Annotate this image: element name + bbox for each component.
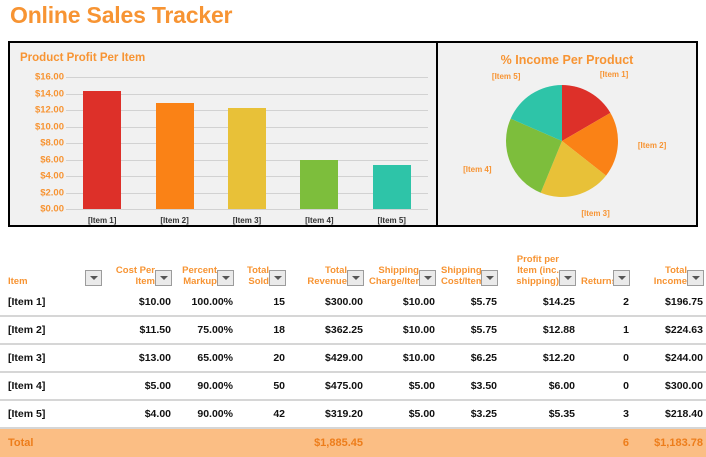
table-cell: $218.40: [632, 400, 706, 428]
table-header-row: ItemCost Per ItemPercent MarkupTotal Sol…: [0, 245, 706, 289]
sales-table: ItemCost Per ItemPercent MarkupTotal Sol…: [0, 245, 706, 457]
bar-chart-bar: [156, 103, 194, 209]
table-cell: 42: [236, 400, 288, 428]
table-cell: 65.00%: [174, 344, 236, 372]
table-cell: $300.00: [288, 289, 366, 316]
table-total-row: Total$1,885.456$1,183.78: [0, 428, 706, 457]
bar-chart-bar: [300, 160, 338, 210]
table-cell: $244.00: [632, 344, 706, 372]
bar-chart-y-tick: $10.00: [35, 121, 64, 132]
pie-chart-plot: [Item 1][Item 2][Item 3][Item 4][Item 5]: [438, 43, 696, 225]
column-filter-button[interactable]: [269, 270, 286, 286]
table-cell: 75.00%: [174, 316, 236, 344]
table-cell: $13.00: [104, 344, 174, 372]
table-total-cell: [366, 428, 438, 457]
bar-chart-plot: $16.00$14.00$12.00$10.00$8.00$6.00$4.00$…: [10, 43, 436, 225]
table-total-cell: $1,885.45: [288, 428, 366, 457]
table-cell: $5.00: [104, 372, 174, 400]
table-cell: [Item 4]: [0, 372, 104, 400]
charts-row: Product Profit Per Item $16.00$14.00$12.…: [8, 41, 698, 227]
column-filter-button[interactable]: [481, 270, 498, 286]
bar-chart-y-tick: $12.00: [35, 105, 64, 116]
table-cell: $6.25: [438, 344, 500, 372]
column-filter-button[interactable]: [347, 270, 364, 286]
table-cell: $5.75: [438, 289, 500, 316]
table-cell: $5.00: [366, 400, 438, 428]
chevron-down-icon: [618, 276, 626, 280]
table-cell: [Item 5]: [0, 400, 104, 428]
table-row[interactable]: [Item 4]$5.0090.00%50$475.00$5.00$3.50$6…: [0, 372, 706, 400]
pie-chart-label: [Item 4]: [463, 165, 491, 174]
chevron-down-icon: [90, 276, 98, 280]
bar-chart-x-label: [Item 5]: [364, 216, 420, 225]
bar-chart-y-tick: $2.00: [40, 187, 64, 198]
table-cell: $429.00: [288, 344, 366, 372]
table-header-cell: Percent Markup: [174, 245, 236, 289]
table-cell: 0: [578, 372, 632, 400]
table-total-cell: [438, 428, 500, 457]
column-filter-button[interactable]: [217, 270, 234, 286]
table-cell: 1: [578, 316, 632, 344]
table-cell: $5.35: [500, 400, 578, 428]
bar-chart-x-label: [Item 1]: [74, 216, 130, 225]
table-header-cell: Total Sold: [236, 245, 288, 289]
table-row[interactable]: [Item 2]$11.5075.00%18$362.25$10.00$5.75…: [0, 316, 706, 344]
column-filter-button[interactable]: [687, 270, 704, 286]
sales-table-container: ItemCost Per ItemPercent MarkupTotal Sol…: [0, 245, 706, 429]
bar-chart-y-tick: $16.00: [35, 72, 64, 83]
table-body: [Item 1]$10.00100.00%15$300.00$10.00$5.7…: [0, 289, 706, 457]
table-cell: $6.00: [500, 372, 578, 400]
column-filter-button[interactable]: [419, 270, 436, 286]
table-header-cell: Cost Per Item: [104, 245, 174, 289]
table-cell: $300.00: [632, 372, 706, 400]
table-cell: $10.00: [366, 289, 438, 316]
chevron-down-icon: [486, 276, 494, 280]
bar-chart-x-labels: [Item 1][Item 2][Item 3][Item 4][Item 5]: [66, 211, 428, 229]
chevron-down-icon: [222, 276, 230, 280]
table-row[interactable]: [Item 5]$4.0090.00%42$319.20$5.00$3.25$5…: [0, 400, 706, 428]
table-cell: 0: [578, 344, 632, 372]
pie-chart-label: [Item 3]: [581, 209, 609, 218]
pie-chart-panel: % Income Per Product [Item 1][Item 2][It…: [438, 41, 698, 227]
table-cell: 15: [236, 289, 288, 316]
table-cell: 90.00%: [174, 372, 236, 400]
table-cell: 20: [236, 344, 288, 372]
table-cell: 90.00%: [174, 400, 236, 428]
table-cell: $11.50: [104, 316, 174, 344]
table-cell: 18: [236, 316, 288, 344]
table-cell: $319.20: [288, 400, 366, 428]
bar-chart-x-label: [Item 3]: [219, 216, 275, 225]
table-total-cell: 6: [578, 428, 632, 457]
table-cell: $196.75: [632, 289, 706, 316]
table-header-cell: Returns: [578, 245, 632, 289]
table-cell: $362.25: [288, 316, 366, 344]
table-cell: $12.20: [500, 344, 578, 372]
bar-chart-gridline: [66, 209, 428, 210]
table-cell: $5.75: [438, 316, 500, 344]
pie-chart-label: [Item 1]: [600, 70, 628, 79]
table-cell: $3.50: [438, 372, 500, 400]
chevron-down-icon: [352, 276, 360, 280]
table-total-cell: Total: [0, 428, 104, 457]
chevron-down-icon: [424, 276, 432, 280]
pie-chart-label: [Item 2]: [638, 141, 666, 150]
table-header-cell: Item: [0, 245, 104, 289]
table-total-cell: [500, 428, 578, 457]
table-cell: 50: [236, 372, 288, 400]
bar-chart-y-tick: $4.00: [40, 171, 64, 182]
table-cell: $10.00: [366, 316, 438, 344]
table-total-cell: [104, 428, 174, 457]
page-title: Online Sales Tracker: [10, 2, 232, 29]
table-row[interactable]: [Item 3]$13.0065.00%20$429.00$10.00$6.25…: [0, 344, 706, 372]
column-filter-button[interactable]: [613, 270, 630, 286]
table-cell: $224.63: [632, 316, 706, 344]
table-header-cell: Shipping Charge/Item: [366, 245, 438, 289]
table-cell: $10.00: [104, 289, 174, 316]
chevron-down-icon: [274, 276, 282, 280]
table-cell: $10.00: [366, 344, 438, 372]
bar-chart-x-label: [Item 4]: [291, 216, 347, 225]
table-header-cell: Shipping Cost/Item: [438, 245, 500, 289]
pie-chart-label: [Item 5]: [492, 72, 520, 81]
table-cell: 2: [578, 289, 632, 316]
table-cell: 100.00%: [174, 289, 236, 316]
bar-chart-bars: [66, 77, 428, 209]
table-cell: $4.00: [104, 400, 174, 428]
table-cell: [Item 3]: [0, 344, 104, 372]
table-header-cell: Profit per Item (inc. shipping): [500, 245, 578, 289]
chevron-down-icon: [692, 276, 700, 280]
table-header-cell: Total Revenue: [288, 245, 366, 289]
bar-chart-x-label: [Item 2]: [147, 216, 203, 225]
pie-chart-svg: [438, 43, 694, 225]
bar-chart-bar: [373, 165, 411, 209]
bar-chart-y-tick: $8.00: [40, 138, 64, 149]
online-sales-tracker-app: Online Sales Tracker Product Profit Per …: [0, 0, 706, 429]
chevron-down-icon: [160, 276, 168, 280]
table-cell: $12.88: [500, 316, 578, 344]
bar-chart-y-tick: $6.00: [40, 154, 64, 165]
bar-chart-y-tick: $14.00: [35, 88, 64, 99]
table-cell: $475.00: [288, 372, 366, 400]
table-row[interactable]: [Item 1]$10.00100.00%15$300.00$10.00$5.7…: [0, 289, 706, 316]
column-filter-button[interactable]: [559, 270, 576, 286]
column-filter-button[interactable]: [85, 270, 102, 286]
table-cell: [Item 2]: [0, 316, 104, 344]
bar-chart-plot-area: [66, 77, 428, 209]
bar-chart-bar: [83, 91, 121, 209]
chevron-down-icon: [564, 276, 572, 280]
table-total-cell: $1,183.78: [632, 428, 706, 457]
table-cell: $3.25: [438, 400, 500, 428]
table-cell: $14.25: [500, 289, 578, 316]
table-cell: 3: [578, 400, 632, 428]
table-cell: $5.00: [366, 372, 438, 400]
column-filter-button[interactable]: [155, 270, 172, 286]
table-header-cell: Total Income: [632, 245, 706, 289]
bar-chart-y-tick: $0.00: [40, 204, 64, 215]
bar-chart-bar: [228, 108, 266, 209]
bar-chart-panel: Product Profit Per Item $16.00$14.00$12.…: [8, 41, 438, 227]
table-total-cell: [174, 428, 236, 457]
bar-chart-y-axis: $16.00$14.00$12.00$10.00$8.00$6.00$4.00$…: [12, 77, 64, 209]
table-cell: [Item 1]: [0, 289, 104, 316]
table-total-cell: [236, 428, 288, 457]
